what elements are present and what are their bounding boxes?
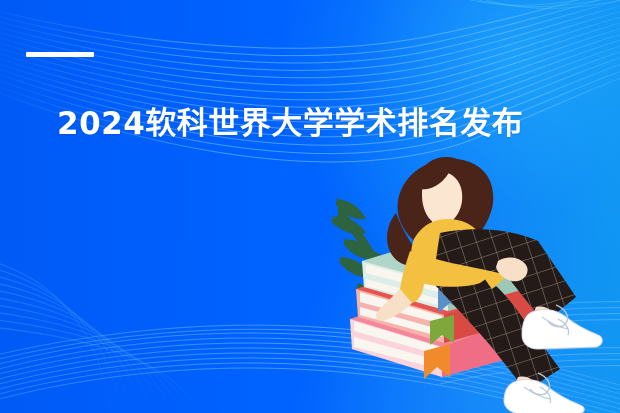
banner-graphic: 2024软科世界大学学术排名发布 <box>0 0 620 413</box>
figure-woman <box>376 157 602 413</box>
illustration-woman-on-books <box>330 155 620 413</box>
accent-rule <box>26 52 94 57</box>
page-title: 2024软科世界大学学术排名发布 <box>57 104 523 144</box>
background-left-shade <box>0 0 260 413</box>
